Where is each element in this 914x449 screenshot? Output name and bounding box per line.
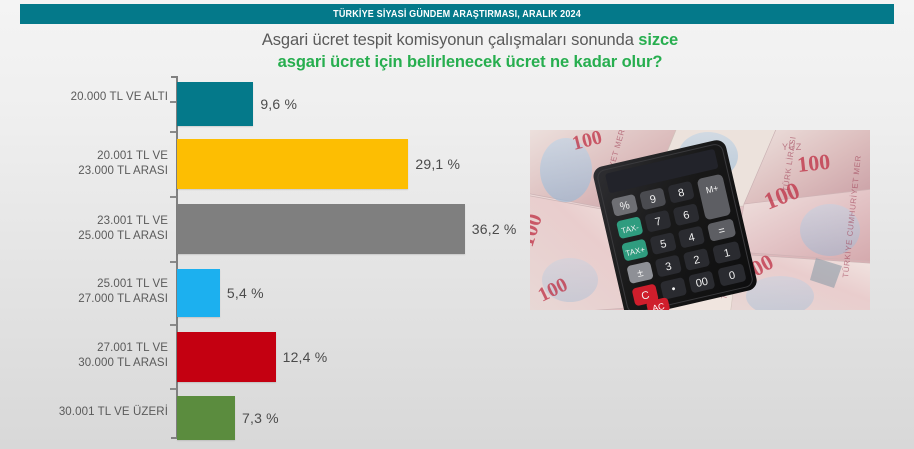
bar-with-value: 12,4 % — [177, 332, 327, 382]
bar-value-label: 5,4 % — [227, 285, 264, 301]
bar-category-label: 20.000 TL VE ALTI — [0, 90, 168, 105]
bar-category-label: 20.001 TL VE 23.000 TL ARASI — [0, 149, 168, 179]
axis-tick — [170, 324, 176, 326]
bar-value-label: 12,4 % — [283, 349, 328, 365]
bar-value-label: 9,6 % — [260, 96, 297, 112]
slide-root: TÜRKİYE SİYASİ GÜNDEM ARAŞTIRMASI, ARALI… — [0, 0, 914, 449]
bar-category-line2: 23.000 TL ARASI — [0, 164, 168, 179]
bar-segment[interactable] — [177, 204, 465, 254]
bar-row: 27.001 TL VE 30.000 TL ARASI 12,4 % — [0, 330, 560, 384]
horizontal-bar-chart: 20.000 TL VE ALTI 9,6 % 20.001 TL VE 23.… — [0, 72, 560, 442]
bar-category-label: 25.001 TL VE 27.000 TL ARASI — [0, 277, 168, 307]
bar-segment[interactable] — [177, 396, 235, 440]
bar-category-line1: 27.001 TL VE — [0, 341, 168, 356]
bar-category-line1: 25.001 TL VE — [0, 277, 168, 292]
bar-row: 30.001 TL VE ÜZERİ 7,3 % — [0, 394, 560, 442]
bar-row: 25.001 TL VE 27.000 TL ARASI 5,4 % — [0, 267, 560, 319]
axis-tick — [170, 196, 176, 198]
bar-segment[interactable] — [177, 139, 408, 189]
bar-segment[interactable] — [177, 82, 253, 126]
bar-row: 20.001 TL VE 23.000 TL ARASI 29,1 % — [0, 137, 560, 191]
bar-row: 20.000 TL VE ALTI 9,6 % — [0, 78, 560, 126]
bar-category-line1: 23.001 TL VE — [0, 214, 168, 229]
bar-with-value: 36,2 % — [177, 204, 517, 254]
bar-value-label: 7,3 % — [242, 410, 279, 426]
bar-segment[interactable] — [177, 269, 220, 317]
axis-tick — [170, 261, 176, 263]
page-title: Asgari ücret tespit komisyonun çalışmala… — [150, 30, 790, 74]
bar-with-value: 5,4 % — [177, 269, 264, 317]
bar-category-label: 23.001 TL VE 25.000 TL ARASI — [0, 214, 168, 244]
bar-category-label: 27.001 TL VE 30.000 TL ARASI — [0, 341, 168, 371]
bar-value-label: 36,2 % — [472, 221, 517, 237]
bar-category-line1: 20.001 TL VE — [0, 149, 168, 164]
axis-tick — [170, 101, 176, 103]
svg-text:YÜZ: YÜZ — [782, 142, 802, 152]
bar-with-value: 29,1 % — [177, 139, 460, 189]
banknotes-calculator-photo: 100 100 100 100 100 100 YET MERKEZ BANKA… — [530, 130, 870, 310]
axis-tick — [170, 388, 176, 390]
photo-illustration: 100 100 100 100 100 100 YET MERKEZ BANKA… — [530, 130, 870, 310]
bar-category-line2: 30.000 TL ARASI — [0, 356, 168, 371]
survey-banner: TÜRKİYE SİYASİ GÜNDEM ARAŞTIRMASI, ARALI… — [20, 4, 894, 24]
title-line-2: asgari ücret için belirlenecek ücret ne … — [150, 52, 790, 74]
bar-segment[interactable] — [177, 332, 276, 382]
bar-category-line1: 30.001 TL VE ÜZERİ — [0, 405, 168, 420]
bar-category-line2: 25.000 TL ARASI — [0, 229, 168, 244]
bar-value-label: 29,1 % — [415, 156, 460, 172]
bar-row: 23.001 TL VE 25.000 TL ARASI 36,2 % — [0, 202, 560, 256]
bar-with-value: 9,6 % — [177, 82, 297, 126]
bar-category-line2: 27.000 TL ARASI — [0, 292, 168, 307]
title-line-1: Asgari ücret tespit komisyonun çalışmala… — [150, 30, 790, 52]
axis-tick — [170, 131, 176, 133]
title-highlight-text: sizce — [638, 31, 678, 49]
banner-title: TÜRKİYE SİYASİ GÜNDEM ARAŞTIRMASI, ARALI… — [333, 8, 581, 20]
bar-category-label: 30.001 TL VE ÜZERİ — [0, 405, 168, 420]
svg-text:100: 100 — [796, 149, 831, 177]
bar-category-line1: 20.000 TL VE ALTI — [0, 90, 168, 105]
bar-with-value: 7,3 % — [177, 396, 279, 440]
title-plain-text: Asgari ücret tespit komisyonun çalışmala… — [262, 31, 638, 49]
